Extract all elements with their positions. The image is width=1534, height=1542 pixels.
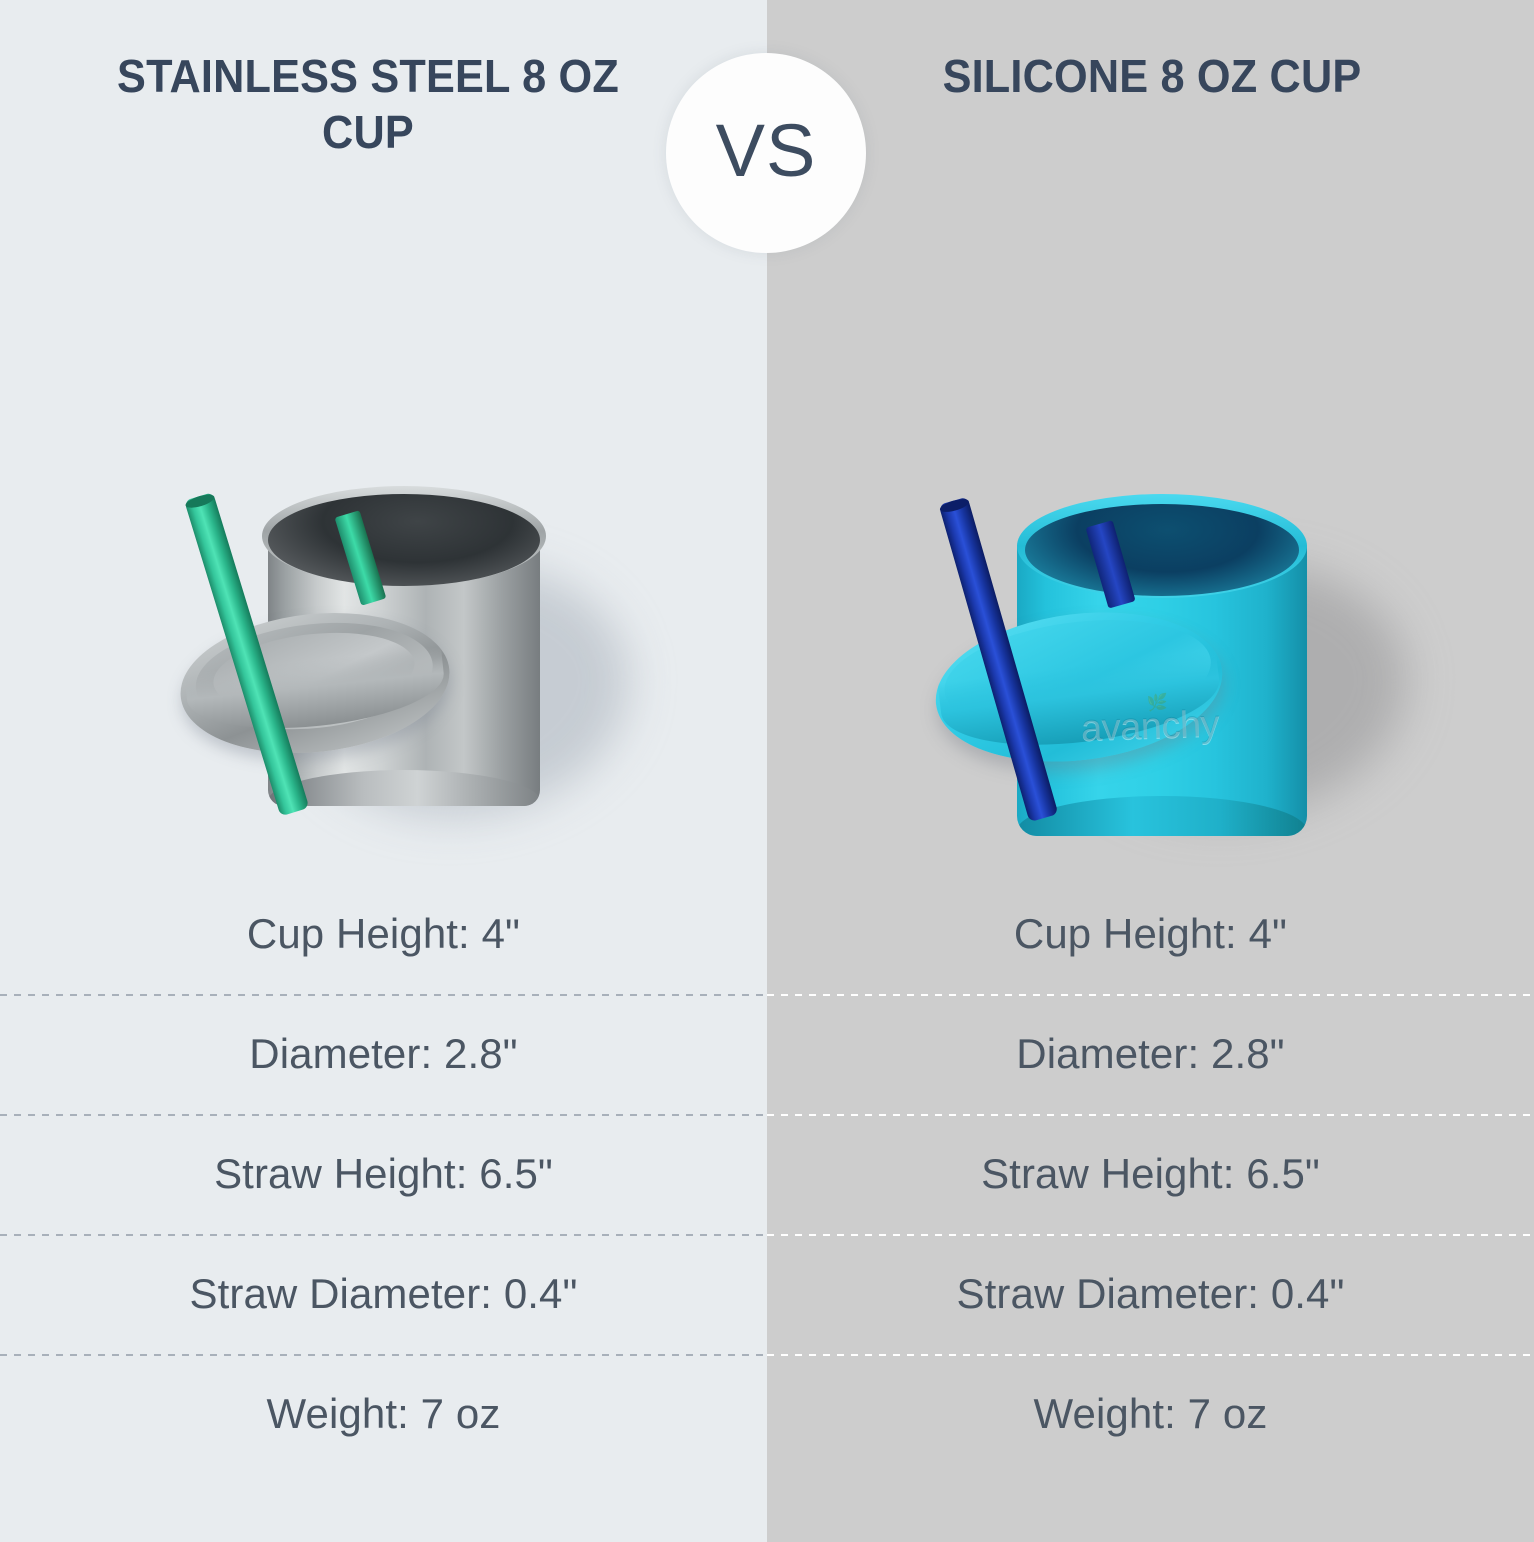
left-column-title: STAINLESS STEEL 8 oz CUP [67, 48, 669, 160]
spec-value-right: Straw Diameter: 0.4" [767, 1234, 1534, 1354]
spec-value-right: Straw Height: 6.5" [767, 1114, 1534, 1234]
steel-cup-cavity [268, 494, 540, 586]
spec-value-left: Straw Diameter: 0.4" [0, 1234, 767, 1354]
versus-badge: VS [666, 53, 866, 253]
versus-badge-label: VS [716, 114, 817, 188]
spec-value-left: Diameter: 2.8" [0, 994, 767, 1114]
silicone-cup-image: 🌿 avanchy [767, 236, 1534, 866]
spec-value-left: Straw Height: 6.5" [0, 1114, 767, 1234]
stainless-steel-cup-image [0, 236, 767, 866]
steel-cup-lid [174, 600, 457, 765]
spec-comparison-table: Cup Height: 4"Cup Height: 4"Diameter: 2.… [0, 866, 1534, 1542]
comparison-infographic: STAINLESS STEEL 8 oz CUP SILICONE 8 oz C… [0, 0, 1534, 1542]
right-column-title: SILICONE 8 oz CUP [851, 48, 1453, 104]
spec-value-left: Weight: 7 oz [0, 1354, 767, 1474]
spec-row: Weight: 7 ozWeight: 7 oz [0, 1354, 1534, 1474]
spec-row: Straw Height: 6.5"Straw Height: 6.5" [0, 1114, 1534, 1234]
spec-row: Diameter: 2.8"Diameter: 2.8" [0, 994, 1534, 1114]
spec-row: Straw Diameter: 0.4"Straw Diameter: 0.4" [0, 1234, 1534, 1354]
spec-row: Cup Height: 4"Cup Height: 4" [0, 874, 1534, 994]
spec-value-right: Cup Height: 4" [767, 874, 1534, 994]
spec-value-right: Diameter: 2.8" [767, 994, 1534, 1114]
spec-value-left: Cup Height: 4" [0, 874, 767, 994]
silicone-cup-cavity [1025, 504, 1299, 596]
spec-value-right: Weight: 7 oz [767, 1354, 1534, 1474]
